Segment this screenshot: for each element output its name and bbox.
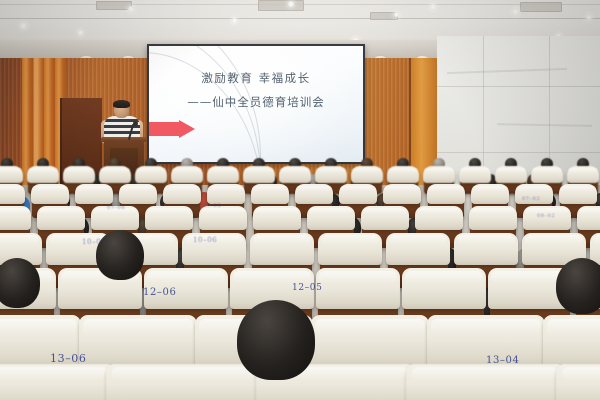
seat-headrest-cover [0,166,23,182]
ceiling-downlight [20,22,27,29]
seat [560,368,600,400]
seat-number-label: 13–04 [486,355,519,366]
slide-subtitle-text: ——仙中全员德育培训会 [149,94,363,110]
slide-title-text: 激励教育 幸福成长 [149,70,363,86]
seat-number-label: 10–07 [82,238,106,246]
seat-headrest-cover [383,184,421,204]
seat-number-label: 13–06 [50,352,87,365]
seat-headrest-cover [567,166,599,182]
seat-headrest-cover [454,233,518,265]
ceiling-vent [96,1,132,10]
seat-headrest-cover [351,166,383,182]
conference-hall-photo: 激励教育 幸福成长 ——仙中全员德育培训会 13–0613–0412–0612–… [0,0,600,400]
seat-number-label: 12–06 [143,287,176,298]
ceiling-downlight [430,4,436,10]
seat-headrest-cover [387,166,419,182]
seat-headrest-cover [427,184,465,204]
seat-headrest-cover [386,233,450,265]
ceiling-downlight [586,14,592,20]
seat-number-label: 07–02 [522,196,540,202]
projection-screen: 激励教育 幸福成长 ——仙中全员德育培训会 [149,46,363,162]
ceiling-downlight [512,8,519,15]
ceiling-downlight [128,6,134,12]
seat-headrest-cover [106,364,265,400]
ceiling-vent [520,2,562,12]
seat-number-label: 07–05 [203,203,221,209]
foreground-head-center [237,300,315,380]
seat [110,368,260,400]
seat-headrest-cover [471,184,509,204]
doorway-edge [60,98,62,188]
marble-grout-line [437,86,600,87]
seat-headrest-cover [316,268,401,309]
projection-screen-frame: 激励教育 幸福成长 ——仙中全员德育培训会 [147,44,365,164]
ceiling-downlight [232,18,237,23]
seat-headrest-cover [577,206,600,231]
seat [410,368,560,400]
seat-headrest-cover [559,184,597,204]
ceiling-seam [0,18,600,19]
seat-headrest-cover [145,206,194,231]
microphone-head-icon [133,121,138,126]
seat-headrest-cover [243,166,275,182]
seat-headrest-cover [318,233,382,265]
seat-headrest-cover [402,268,487,309]
seat [0,368,110,400]
seat-headrest-cover [250,233,314,265]
seat-headrest-cover [415,206,464,231]
foreground-head-right [556,258,600,314]
seat-headrest-cover [0,206,31,231]
seat-number-label: 12–05 [292,283,322,293]
seat-headrest-cover [361,206,410,231]
seat-headrest-cover [163,184,201,204]
seat-headrest-cover [0,364,115,400]
marble-vein [497,123,592,127]
seat-headrest-cover [79,315,198,367]
seat-headrest-cover [279,166,311,182]
ceiling-vent [258,0,304,11]
seat-headrest-cover [119,184,157,204]
foreground-head-far-left [0,258,40,308]
seat-headrest-cover [31,184,69,204]
seat-headrest-cover [253,206,302,231]
seat-headrest-cover [469,206,518,231]
seat-headrest-cover [543,315,600,367]
seat-headrest-cover [37,206,86,231]
ceiling-downlight [288,1,294,7]
seat-headrest-cover [207,184,245,204]
seat-headrest-cover [251,184,289,204]
seat-headrest-cover [459,166,491,182]
seat-number-label: 07–06 [107,205,125,211]
seat-headrest-cover [63,166,95,182]
seat-headrest-cover [531,166,563,182]
seat-headrest-cover [99,166,131,182]
seat-headrest-cover [311,315,430,367]
seat-headrest-cover [423,166,455,182]
seat-headrest-cover [315,166,347,182]
seat-headrest-cover [295,184,333,204]
seat-headrest-cover [75,184,113,204]
seat-headrest-cover [556,364,600,400]
seat-headrest-cover [199,206,248,231]
seat-headrest-cover [27,166,59,182]
seat-headrest-cover [406,364,565,400]
seat-headrest-cover [207,166,239,182]
seat-headrest-cover [307,206,356,231]
seat-number-label: 10–06 [193,236,217,244]
ceiling-downlight [78,30,83,35]
seat-headrest-cover [135,166,167,182]
marble-grout-line [437,152,600,153]
ceiling-downlight [394,12,399,17]
seat-headrest-cover [495,166,527,182]
seat-headrest-cover [0,184,25,204]
seat-headrest-cover [339,184,377,204]
seat-headrest-cover [171,166,203,182]
speaker-hair [113,100,130,108]
seat-number-label: 08–02 [537,213,555,219]
